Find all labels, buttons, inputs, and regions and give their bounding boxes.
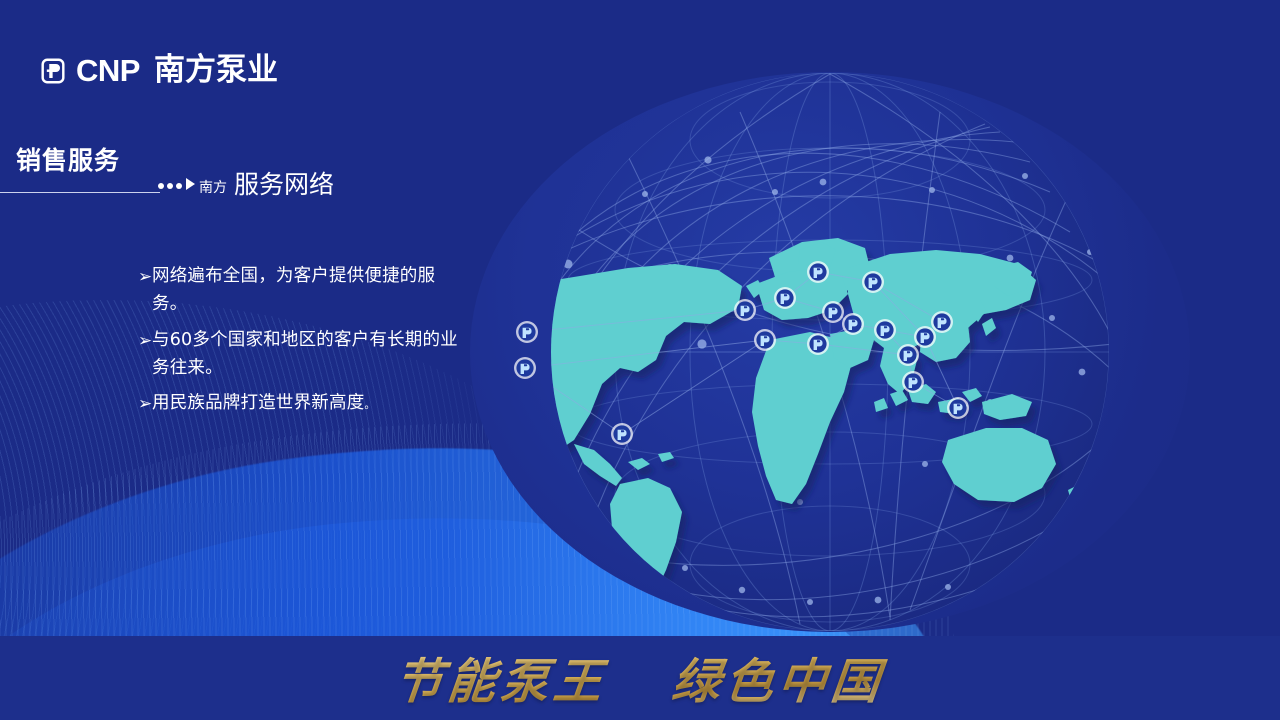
company-logo[interactable]: CNP 南方泵业 [38,55,278,86]
bullet-text-main: 用民族品牌打造世界新高度 [152,393,364,413]
dot-3 [176,183,182,189]
marker-north-america-south[interactable] [514,357,536,379]
gold-slogan: 节能泵王 绿色中国 [0,642,1280,712]
cnp-logo-mark-icon [38,56,68,86]
marker-southeast-asia[interactable] [902,371,924,393]
marker-central-europe[interactable] [774,287,796,309]
marker-central-asia[interactable] [874,319,896,341]
title-divider [0,192,160,193]
slide-root: CNP 南方泵业 销售服务 南方 服务网络 ➢ 网络遍布全国，为客户提供便捷的服… [0,0,1280,720]
dot-1 [158,183,164,189]
marker-north-america-west[interactable] [516,321,538,343]
slogan-part-1: 节能泵王 [392,654,610,710]
marker-north-europe[interactable] [807,261,829,283]
list-item: ➢ 网络遍布全国，为客户提供便捷的服务。 [138,262,468,319]
logo-chinese-text: 南方泵业 [154,55,278,86]
marker-east-europe[interactable] [822,301,844,323]
list-item: ➢ 用民族品牌打造世界新高度。 [138,389,468,419]
marker-south-asia[interactable] [897,344,919,366]
marker-middle-east[interactable] [807,333,829,355]
service-marker-group [514,261,969,445]
bullet-arrow-icon: ➢ [138,328,152,356]
dot-group [158,183,182,189]
dot-2 [167,183,173,189]
marker-west-europe[interactable] [734,299,756,321]
bullet-text: 与60多个国家和地区的客户有长期的业务往来。 [152,326,468,383]
subtitle-row: 南方 服务网络 [158,172,334,197]
world-service-network-globe [470,72,1190,632]
bullet-arrow-icon: ➢ [138,391,152,419]
bullet-list: ➢ 网络遍布全国，为客户提供便捷的服务。 ➢ 与60多个国家和地区的客户有长期的… [138,262,468,426]
service-markers-layer [470,72,1190,632]
marker-east-asia[interactable] [914,326,936,348]
marker-north-africa[interactable] [754,329,776,351]
subtitle-brand: 南方 [199,181,227,195]
marker-oceania-north[interactable] [947,397,969,419]
bullet-text: 网络遍布全国，为客户提供便捷的服务。 [152,262,468,319]
arrow-right-triangle-icon [186,178,195,190]
subtitle-main: 服务网络 [234,172,334,197]
marker-west-asia[interactable] [842,313,864,335]
bullet-text: 用民族品牌打造世界新高度。 [152,389,376,417]
bullet-arrow-icon: ➢ [138,264,152,292]
marker-north-asia[interactable] [862,271,884,293]
list-item: ➢ 与60多个国家和地区的客户有长期的业务往来。 [138,326,468,383]
page-title: 销售服务 [16,141,120,177]
bullet-text-tail: 。 [364,398,375,411]
marker-korea-japan[interactable] [931,311,953,333]
marker-south-america[interactable] [611,423,633,445]
logo-latin-text: CNP [76,55,140,86]
slogan-part-2: 绿色中国 [669,654,887,710]
